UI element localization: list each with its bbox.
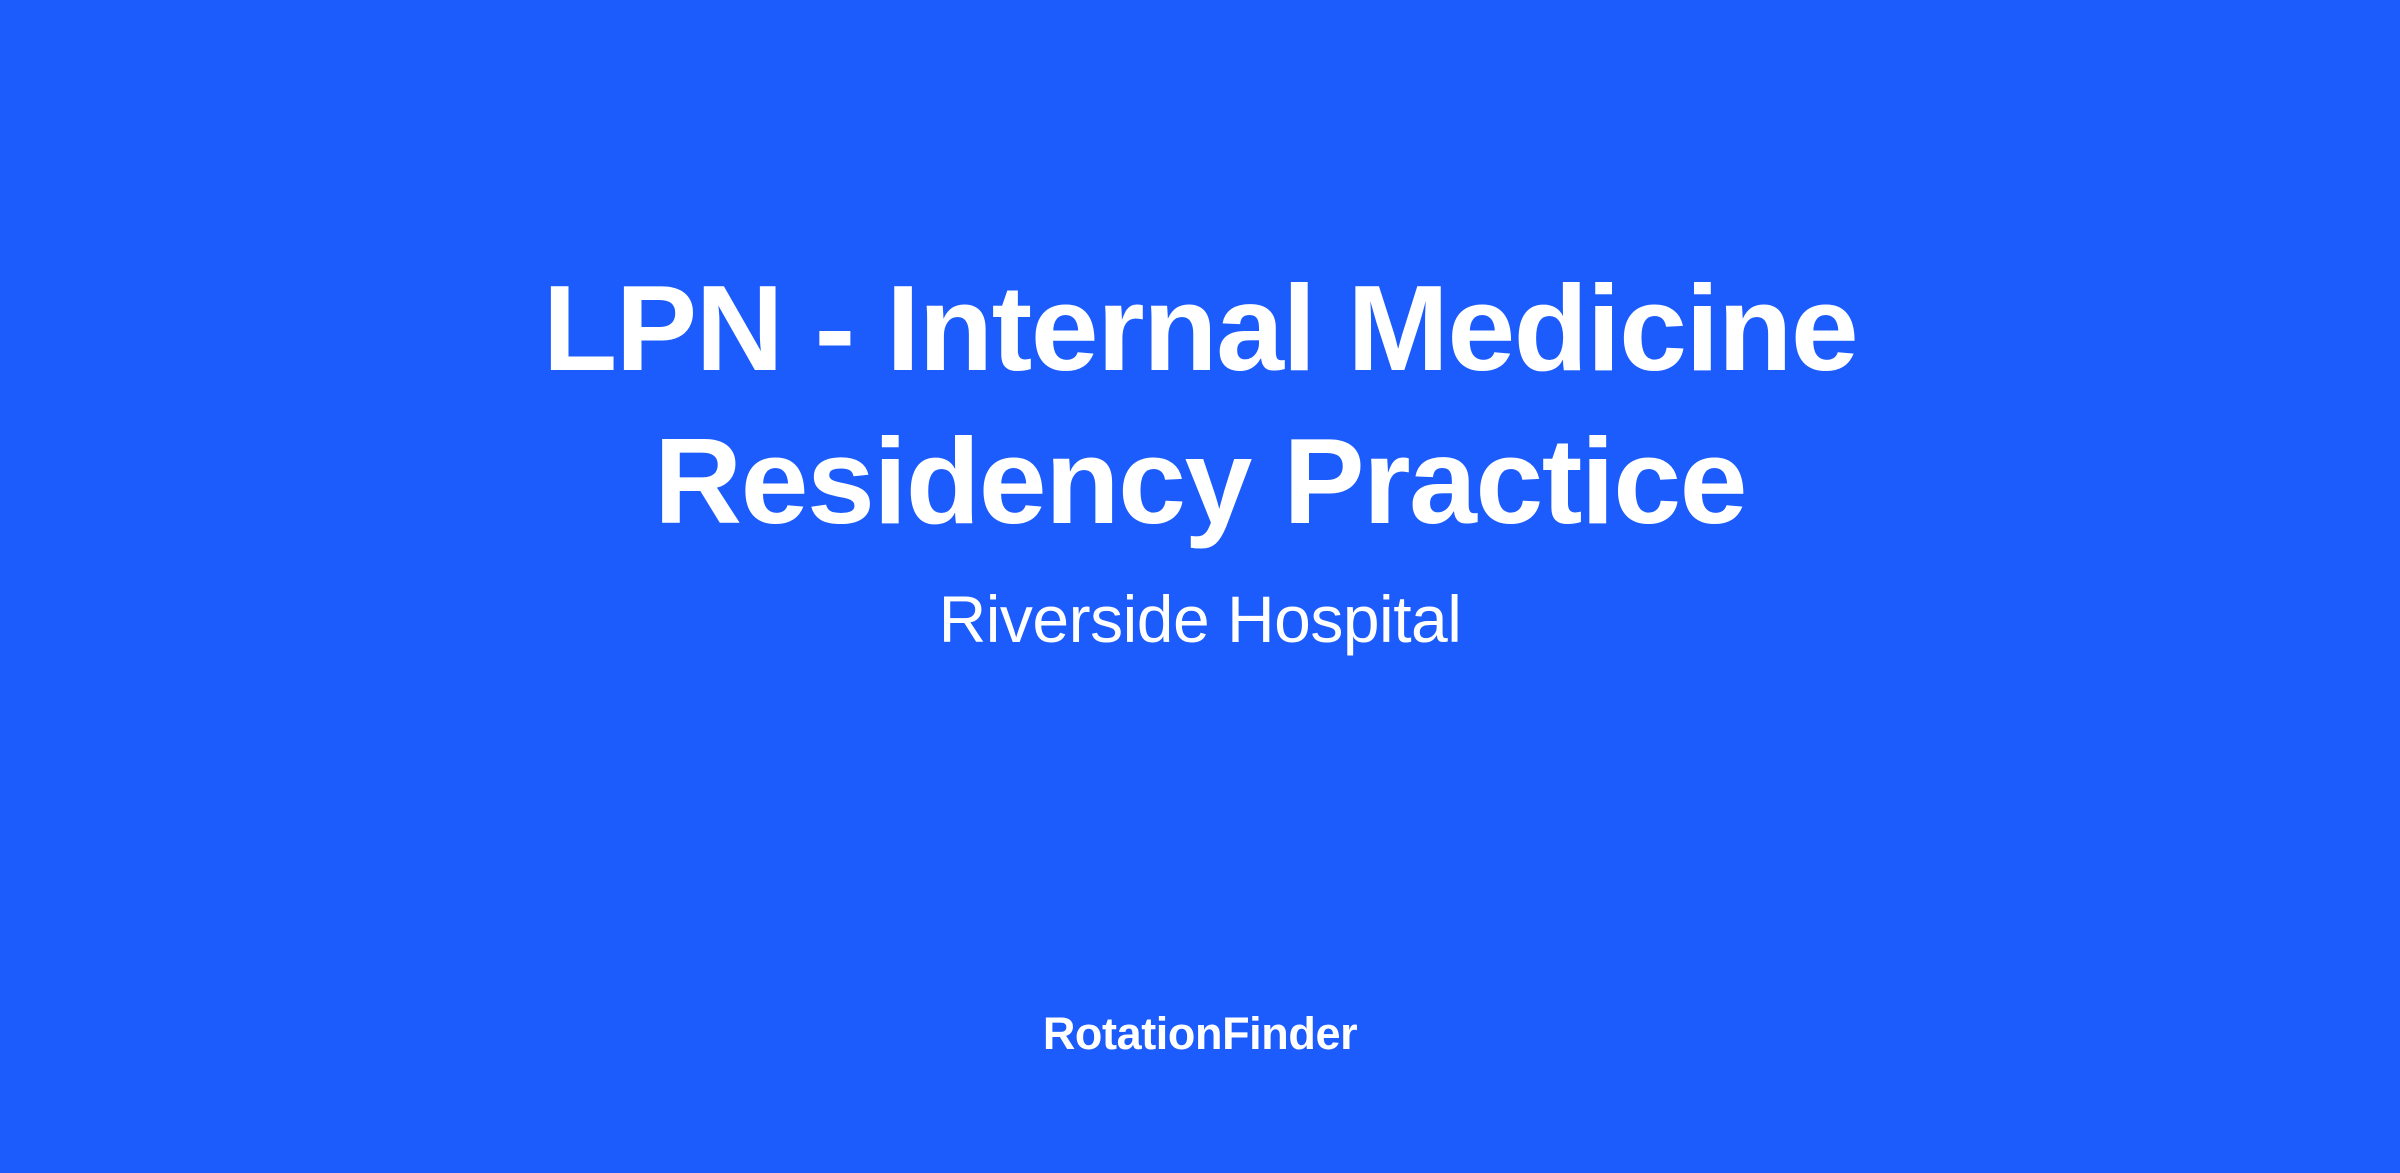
page-title: LPN - Internal Medicine Residency Practi… (540, 252, 1860, 558)
page-subtitle: Riverside Hospital (939, 580, 1462, 658)
hero-text-block: LPN - Internal Medicine Residency Practi… (0, 252, 2400, 658)
share-card: LPN - Internal Medicine Residency Practi… (0, 0, 2400, 1173)
card-footer: RotationFinder (0, 994, 2400, 1173)
brand-wordmark: RotationFinder (1043, 1006, 1357, 1062)
